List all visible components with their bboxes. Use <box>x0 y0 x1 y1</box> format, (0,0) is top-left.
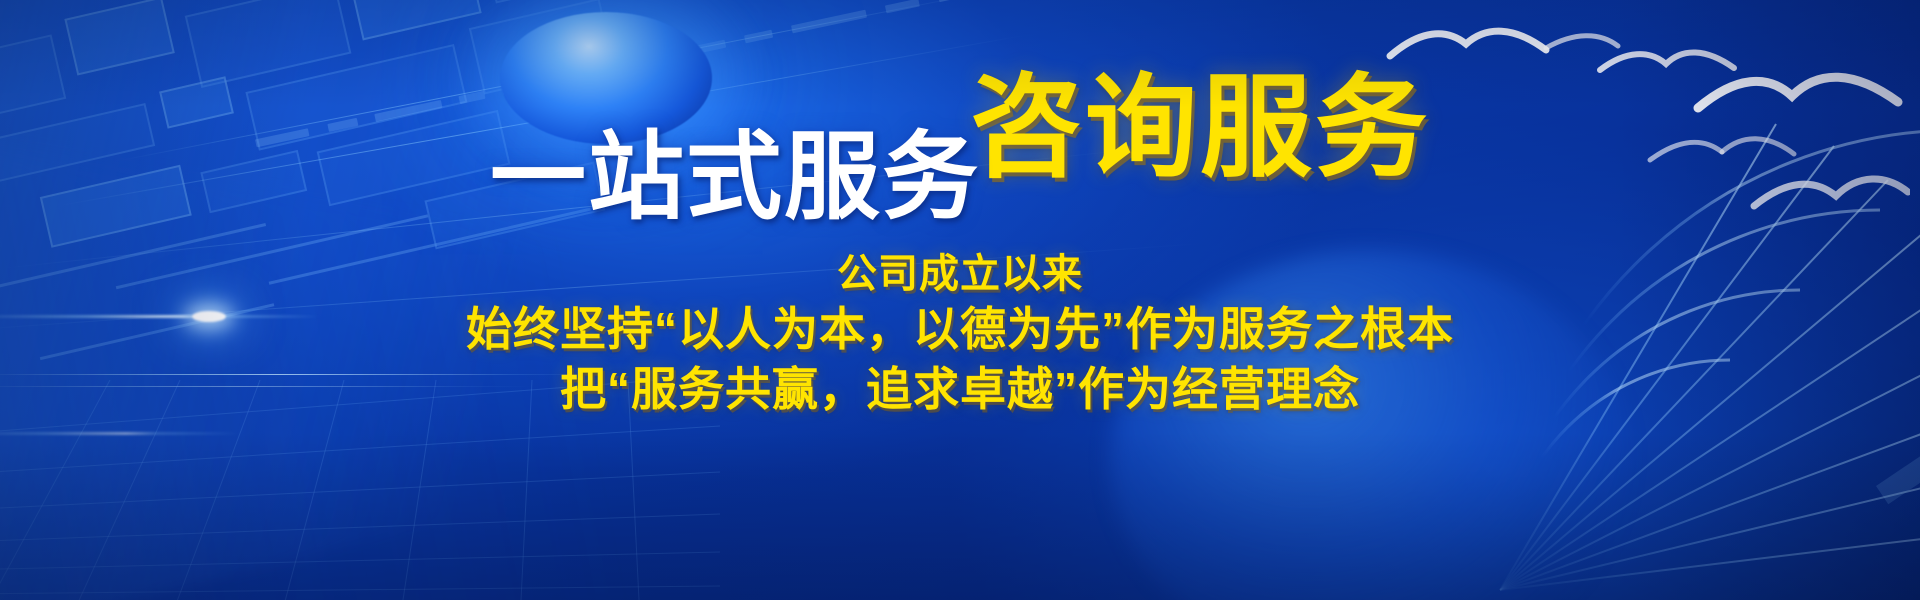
vignette-overlay <box>0 0 1920 600</box>
promo-banner: 一站式服务 咨询服务 公司成立以来 始终坚持“以人为本，以德为先”作为服务之根本… <box>0 0 1920 600</box>
